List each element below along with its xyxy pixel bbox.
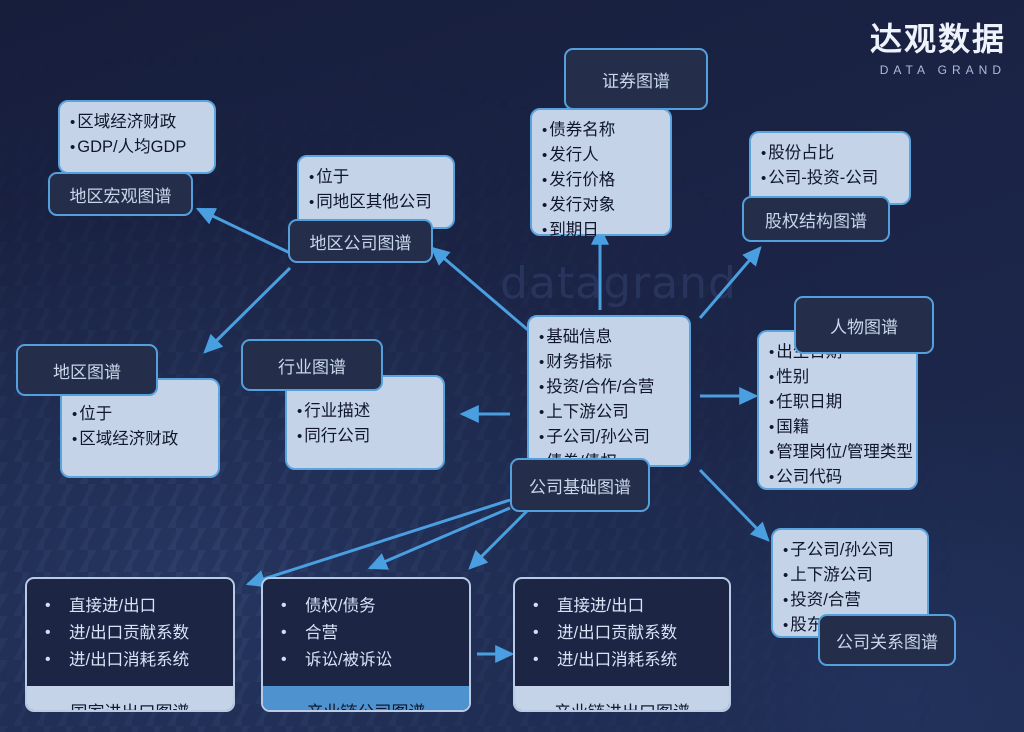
arrow-center-to-region-company <box>432 248 528 330</box>
list-item: 公司-投资-公司 <box>761 166 899 191</box>
region-company-items: 位于 同地区其他公司 <box>309 165 443 215</box>
region-label[interactable]: 地区图谱 <box>16 344 158 396</box>
supplychain-ie-items: 直接进/出口 进/出口贡献系数 进/出口消耗系统 <box>531 593 713 674</box>
list-item: 基础信息 <box>539 325 679 350</box>
relation-label[interactable]: 公司关系图谱 <box>818 614 956 666</box>
supplychain-company-label[interactable]: 产业链公司图谱 <box>263 686 469 712</box>
list-item: 位于 <box>309 165 443 190</box>
industry-label[interactable]: 行业图谱 <box>241 339 383 391</box>
arrow-region-company-to-region-macro <box>198 209 290 253</box>
supplychain-company-items: 债权/债务 合营 诉讼/被诉讼 <box>279 593 453 674</box>
list-item: 管理岗位/管理类型 <box>769 440 906 465</box>
equity-panel: 股份占比 公司-投资-公司 <box>749 131 911 205</box>
list-item: 发行人 <box>542 143 660 168</box>
arrow-center-to-national <box>248 500 510 584</box>
list-item: 子公司/孙公司 <box>539 425 679 450</box>
person-label[interactable]: 人物图谱 <box>794 296 934 354</box>
node-supplychain-company[interactable]: 债权/债务 合营 诉讼/被诉讼 产业链公司图谱 <box>261 577 471 712</box>
list-item: 性别 <box>769 365 906 390</box>
list-item: 进/出口贡献系数 <box>43 620 217 647</box>
list-item: 发行价格 <box>542 168 660 193</box>
diagram-canvas: datagrand <box>0 0 1024 732</box>
supplychain-company-body: 债权/债务 合营 诉讼/被诉讼 <box>263 579 469 686</box>
industry-items: 行业描述 同行公司 <box>297 399 433 449</box>
list-item: 直接进/出口 <box>531 593 713 620</box>
equity-label[interactable]: 股权结构图谱 <box>742 196 890 242</box>
person-panel: 出生日期 性别 任职日期 国籍 管理岗位/管理类型 公司代码 <box>757 330 918 490</box>
brand-logo: 达观数据 DATA GRAND <box>870 22 1006 77</box>
node-supplychain-import-export[interactable]: 直接进/出口 进/出口贡献系数 进/出口消耗系统 产业链进出口图谱 <box>513 577 731 712</box>
central-label[interactable]: 公司基础图谱 <box>510 458 650 512</box>
region-company-label[interactable]: 地区公司图谱 <box>288 219 433 263</box>
list-item: GDP/人均GDP <box>70 135 204 160</box>
central-items: 基础信息 财务指标 投资/合作/合营 上下游公司 子公司/孙公司 债券/债权 <box>539 325 679 475</box>
national-body: 直接进/出口 进/出口贡献系数 进/出口消耗系统 <box>27 579 233 686</box>
region-items: 位于 区域经济财政 <box>72 402 208 452</box>
list-item: 发行对象 <box>542 193 660 218</box>
list-item: 子公司/孙公司 <box>783 538 917 563</box>
list-item: 区域经济财政 <box>70 110 204 135</box>
list-item: 行业描述 <box>297 399 433 424</box>
arrow-center-to-equity <box>700 248 760 318</box>
list-item: 进/出口贡献系数 <box>531 620 713 647</box>
list-item: 股份占比 <box>761 141 899 166</box>
list-item: 债券名称 <box>542 118 660 143</box>
national-items: 直接进/出口 进/出口贡献系数 进/出口消耗系统 <box>43 593 217 674</box>
list-item: 任职日期 <box>769 390 906 415</box>
list-item: 同地区其他公司 <box>309 190 443 215</box>
arrow-center-to-supplychain-ie <box>470 510 528 568</box>
list-item: 到期日 <box>542 218 660 243</box>
list-item: 上下游公司 <box>539 400 679 425</box>
supplychain-ie-label[interactable]: 产业链进出口图谱 <box>515 686 729 712</box>
securities-panel: 债券名称 发行人 发行价格 发行对象 到期日 <box>530 108 672 236</box>
list-item: 进/出口消耗系统 <box>531 647 713 674</box>
national-label[interactable]: 国家进出口图谱 <box>27 686 233 712</box>
list-item: 投资/合营 <box>783 588 917 613</box>
node-national-import-export[interactable]: 直接进/出口 进/出口贡献系数 进/出口消耗系统 国家进出口图谱 <box>25 577 235 712</box>
list-item: 诉讼/被诉讼 <box>279 647 453 674</box>
region-company-panel: 位于 同地区其他公司 <box>297 155 455 229</box>
supplychain-ie-body: 直接进/出口 进/出口贡献系数 进/出口消耗系统 <box>515 579 729 686</box>
list-item: 位于 <box>72 402 208 427</box>
brand-name-en: DATA GRAND <box>870 63 1006 77</box>
list-item: 国籍 <box>769 415 906 440</box>
region-macro-items: 区域经济财政 GDP/人均GDP <box>70 110 204 160</box>
equity-items: 股份占比 公司-投资-公司 <box>761 141 899 191</box>
brand-name-cn: 达观数据 <box>870 22 1006 57</box>
region-macro-label[interactable]: 地区宏观图谱 <box>48 172 193 216</box>
list-item: 财务指标 <box>539 350 679 375</box>
list-item: 合营 <box>279 620 453 647</box>
securities-items: 债券名称 发行人 发行价格 发行对象 到期日 <box>542 118 660 243</box>
list-item: 债权/债务 <box>279 593 453 620</box>
list-item: 直接进/出口 <box>43 593 217 620</box>
list-item: 进/出口消耗系统 <box>43 647 217 674</box>
list-item: 公司代码 <box>769 465 906 490</box>
list-item: 同行公司 <box>297 424 433 449</box>
securities-label[interactable]: 证券图谱 <box>564 48 708 110</box>
list-item: 投资/合作/合营 <box>539 375 679 400</box>
list-item: 上下游公司 <box>783 563 917 588</box>
region-macro-panel: 区域经济财政 GDP/人均GDP <box>58 100 216 174</box>
list-item: 区域经济财政 <box>72 427 208 452</box>
person-items: 出生日期 性别 任职日期 国籍 管理岗位/管理类型 公司代码 <box>769 340 906 490</box>
central-panel: 基础信息 财务指标 投资/合作/合营 上下游公司 子公司/孙公司 债券/债权 <box>527 315 691 467</box>
